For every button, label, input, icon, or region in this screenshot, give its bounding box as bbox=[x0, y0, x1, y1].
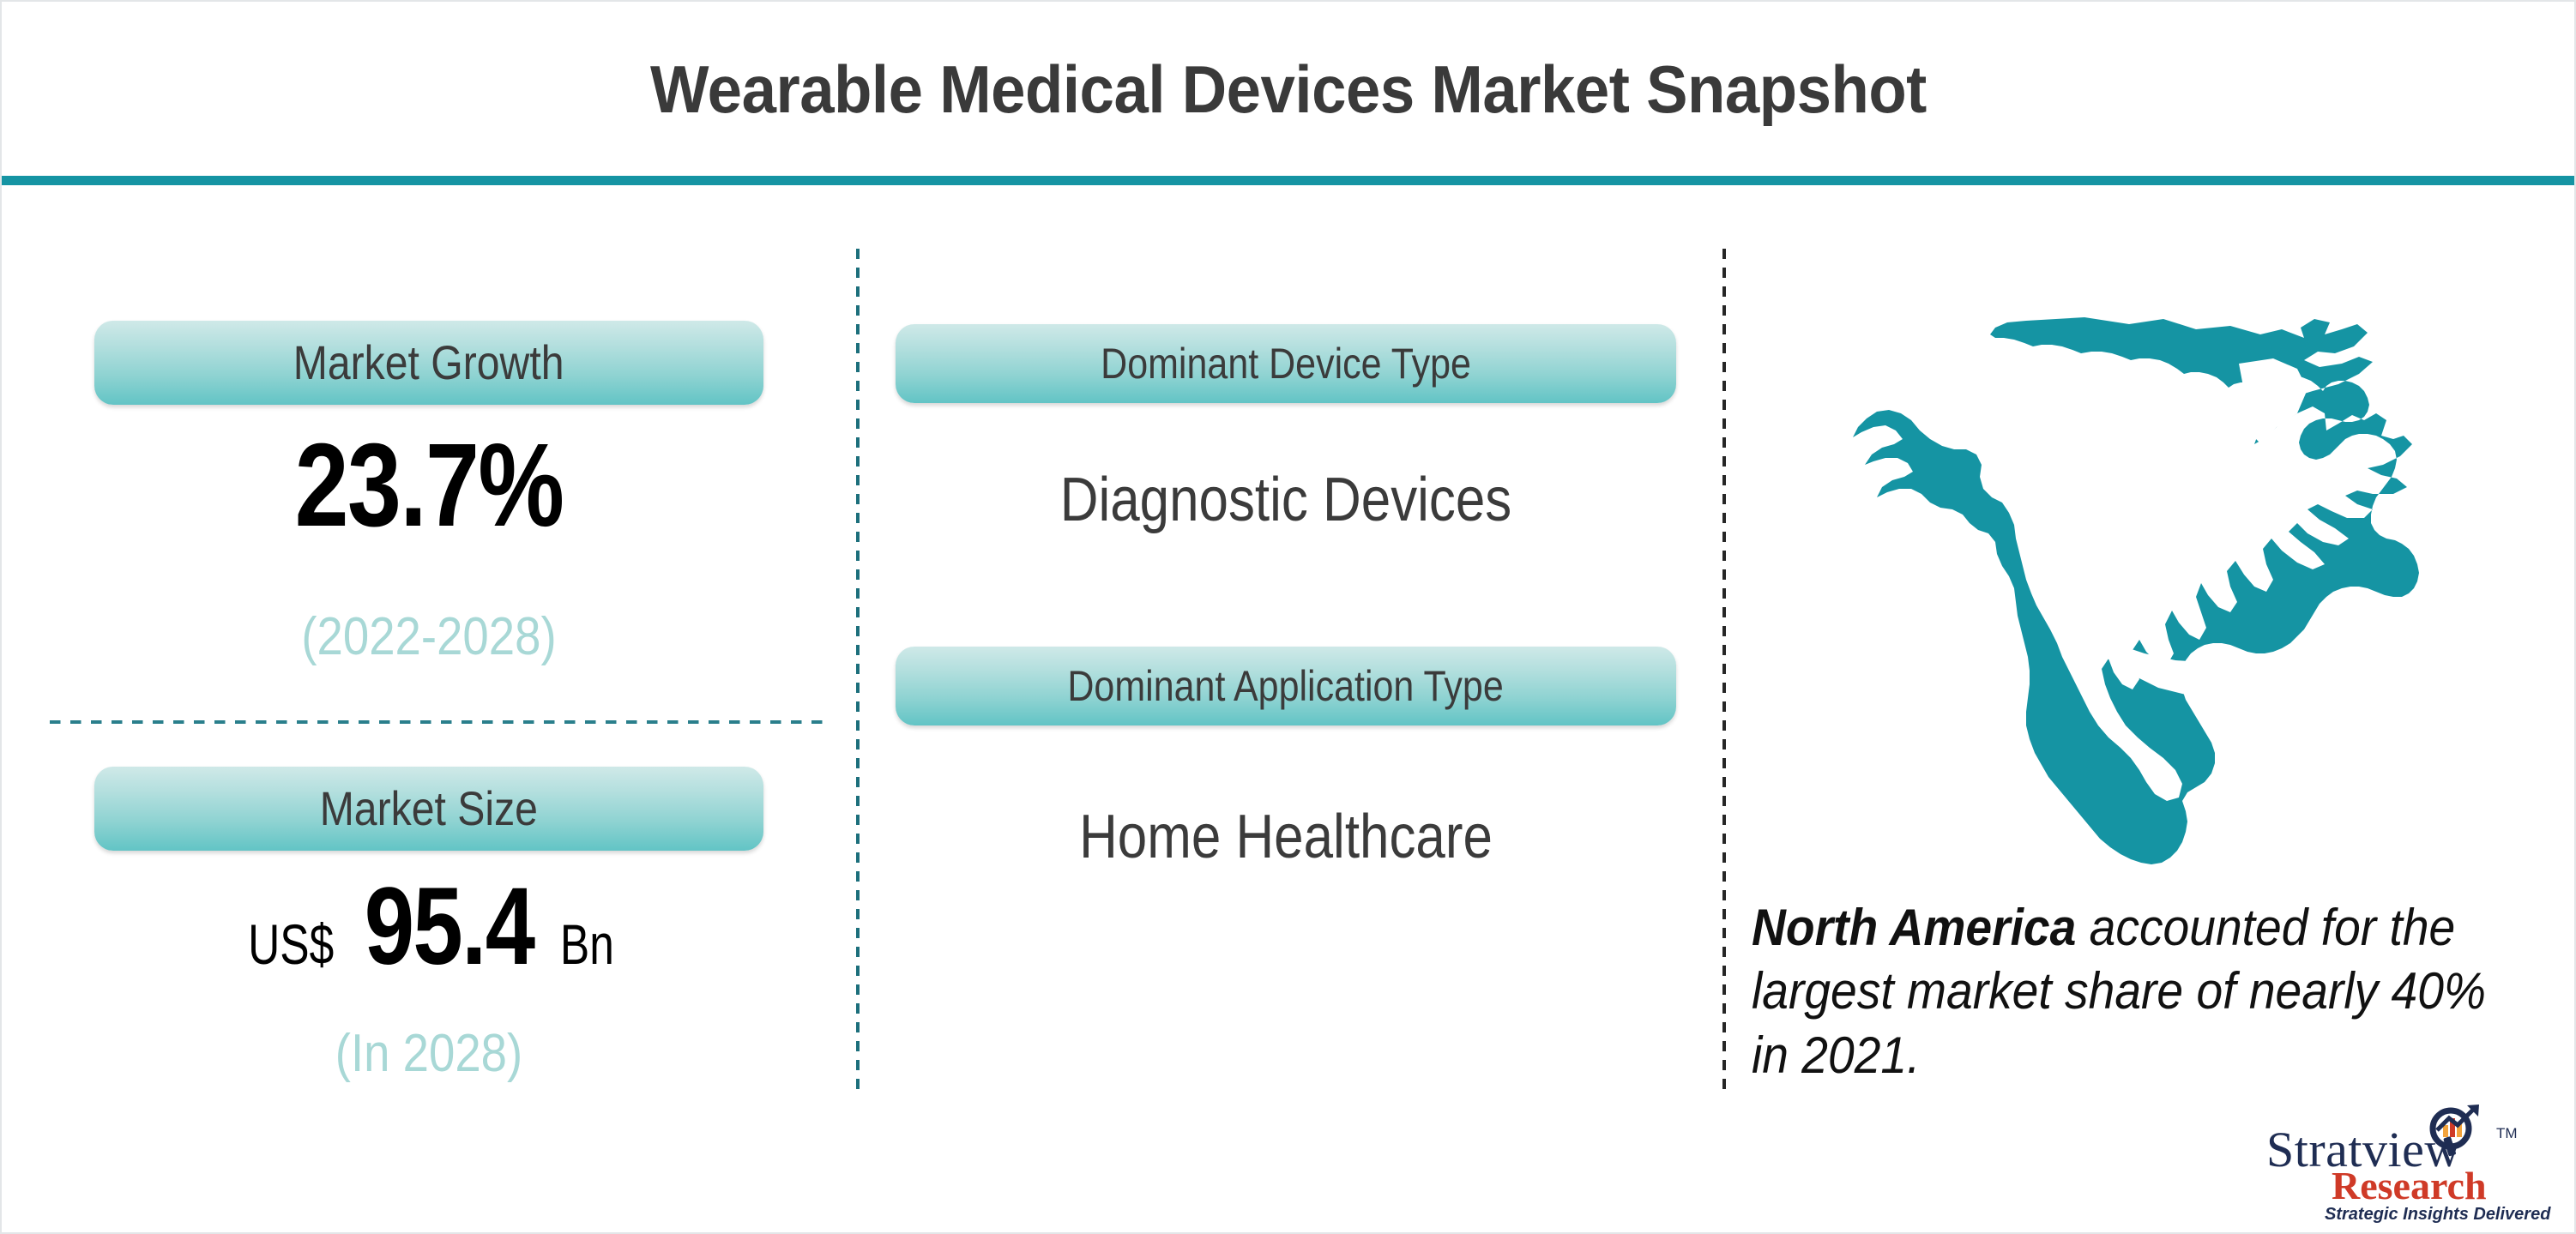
dominant-device-type-label: Dominant Device Type bbox=[1101, 342, 1471, 385]
north-america-map-icon bbox=[1827, 285, 2438, 876]
market-growth-value: 23.7% bbox=[154, 426, 703, 545]
stratview-research-logo: Stratview TM Research Strategic Insights… bbox=[2266, 1106, 2558, 1228]
divider-left-column bbox=[856, 249, 860, 1089]
header-rule bbox=[2, 176, 2574, 185]
dominant-device-type-pill: Dominant Device Type bbox=[896, 324, 1676, 403]
market-growth-label: Market Growth bbox=[293, 339, 564, 387]
dominant-application-type-pill: Dominant Application Type bbox=[896, 647, 1676, 725]
market-size-value: US$95.4Bn bbox=[94, 872, 763, 982]
dominant-application-type-label: Dominant Application Type bbox=[1068, 665, 1504, 707]
dominant-device-type-value: Diagnostic Devices bbox=[950, 469, 1622, 531]
logo-trademark: TM bbox=[2496, 1125, 2518, 1142]
market-growth-period: (2022-2028) bbox=[135, 611, 723, 664]
market-size-period: (In 2028) bbox=[135, 1027, 723, 1081]
divider-left-panel-horizontal bbox=[50, 720, 827, 724]
dominant-application-type-value: Home Healthcare bbox=[950, 806, 1622, 868]
page-title: Wearable Medical Devices Market Snapshot bbox=[650, 51, 1927, 129]
market-size-number: 95.4 bbox=[365, 872, 534, 982]
market-size-pill: Market Size bbox=[94, 767, 763, 851]
market-size-unit: Bn bbox=[560, 916, 614, 972]
logo-research-text: Research bbox=[2332, 1166, 2555, 1206]
region-note-strong: North America bbox=[1752, 899, 2076, 956]
header: Wearable Medical Devices Market Snapshot bbox=[2, 2, 2574, 178]
market-size-currency: US$ bbox=[248, 916, 334, 972]
logo-tagline: Strategic Insights Delivered bbox=[2325, 1206, 2565, 1223]
infographic-canvas: Wearable Medical Devices Market Snapshot… bbox=[0, 0, 2576, 1234]
divider-right-column bbox=[1722, 249, 1726, 1091]
region-note: North America accounted for the largest … bbox=[1752, 896, 2501, 1087]
market-size-label: Market Size bbox=[320, 785, 538, 833]
market-growth-pill: Market Growth bbox=[94, 321, 763, 405]
